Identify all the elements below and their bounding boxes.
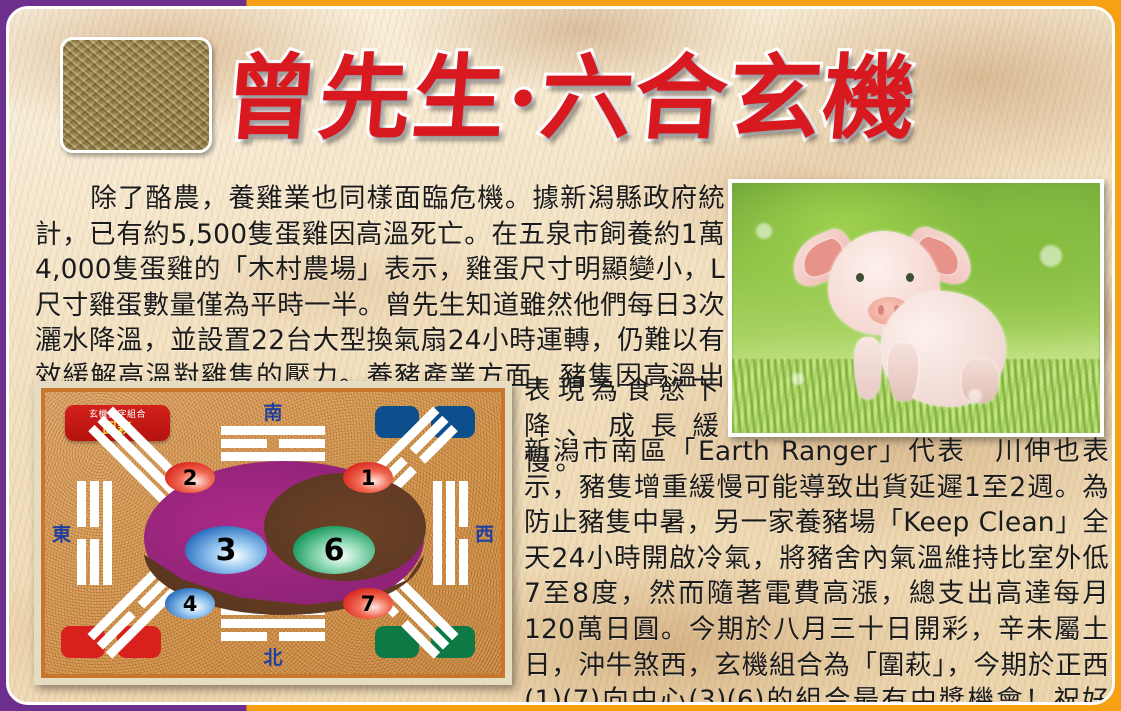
page-title: 曾先生·六合玄機 (221, 48, 922, 148)
direction-label-north: 北 (263, 643, 282, 670)
photo-bokeh-speck (756, 223, 772, 239)
trigram-west-icon (433, 481, 469, 585)
photo-bokeh-speck (1040, 245, 1062, 267)
article-paragraph-bottom: 新潟市南區「Earth Ranger」代表 川伸也表示，豬隻增重緩慢可能導致出貨… (524, 434, 1109, 705)
number-ball-label: 7 (361, 592, 376, 616)
number-ball-1[interactable]: 1 (343, 462, 393, 493)
header: 曾先生·六合玄機 (9, 9, 1112, 174)
number-ball-3[interactable]: 3 (185, 526, 267, 574)
trigram-south-icon (221, 426, 325, 462)
number-ball-label: 4 (183, 592, 198, 616)
piglet-illustration (784, 219, 1024, 404)
photo-bokeh-speck (792, 373, 804, 385)
texture-stamp-icon (60, 37, 212, 153)
number-ball-7[interactable]: 7 (343, 588, 393, 619)
number-ball-label: 1 (361, 466, 376, 490)
number-ball-label: 2 (183, 466, 198, 490)
number-ball-4[interactable]: 4 (165, 588, 215, 619)
photo-bokeh-speck (968, 389, 982, 403)
number-ball-2[interactable]: 2 (165, 462, 215, 493)
bagua-board: 玄機數字組合 圍萩 南 北 東 西 (34, 381, 512, 685)
masthead: 曾先生·六合玄機 (225, 43, 1085, 153)
cork-surface: 玄機數字組合 圍萩 南 北 東 西 (41, 388, 505, 678)
piglet-photo (728, 179, 1104, 437)
number-ball-label: 3 (216, 533, 237, 568)
direction-label-south: 南 (263, 398, 282, 425)
direction-label-west: 西 (475, 520, 494, 547)
number-ball-label: 6 (324, 533, 345, 568)
decorative-frame: 曾先生·六合玄機 (6, 6, 1115, 705)
trigram-east-icon (77, 481, 113, 585)
number-ball-6[interactable]: 6 (293, 526, 375, 574)
page-root: 曾先生·六合玄機 (0, 0, 1121, 711)
direction-label-east: 東 (52, 520, 71, 547)
